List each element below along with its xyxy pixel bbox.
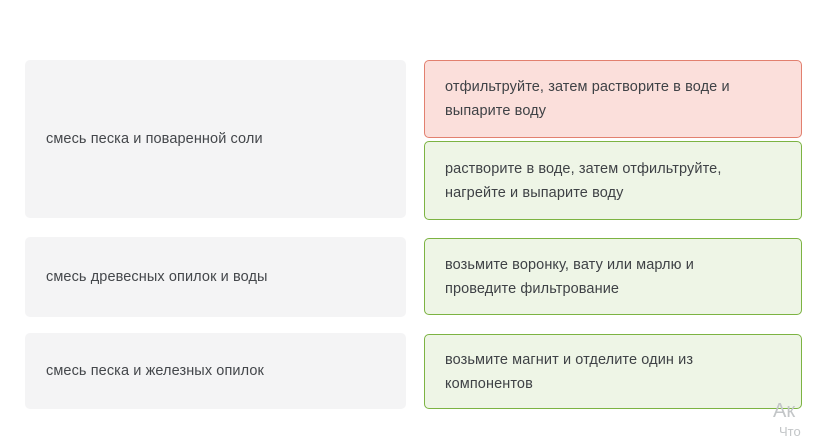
answer-card-label: возьмите магнит и отделите один из компо…: [445, 348, 693, 396]
prompt-card-label: смесь песка и железных опилок: [46, 359, 264, 383]
prompt-card-label: смесь песка и поваренной соли: [46, 127, 263, 151]
prompt-card-2[interactable]: смесь древесных опилок и воды: [25, 237, 406, 317]
matching-exercise-board: смесь песка и поваренной соли смесь древ…: [0, 0, 825, 443]
prompt-card-label: смесь древесных опилок и воды: [46, 265, 268, 289]
answer-card-4[interactable]: возьмите магнит и отделите один из компо…: [424, 334, 802, 409]
prompt-card-3[interactable]: смесь песка и железных опилок: [25, 333, 406, 409]
answer-card-label: отфильтруйте, затем растворите в воде и …: [445, 75, 730, 123]
answer-card-label: растворите в воде, затем отфильтруйте, н…: [445, 157, 721, 205]
answer-card-1[interactable]: отфильтруйте, затем растворите в воде и …: [424, 60, 802, 138]
prompt-card-1[interactable]: смесь песка и поваренной соли: [25, 60, 406, 218]
activation-watermark-line-2: Что: [769, 423, 825, 441]
answer-card-2[interactable]: растворите в воде, затем отфильтруйте, н…: [424, 141, 802, 220]
answer-card-label: возьмите воронку, вату или марлю и прове…: [445, 253, 694, 301]
answer-card-3[interactable]: возьмите воронку, вату или марлю и прове…: [424, 238, 802, 315]
